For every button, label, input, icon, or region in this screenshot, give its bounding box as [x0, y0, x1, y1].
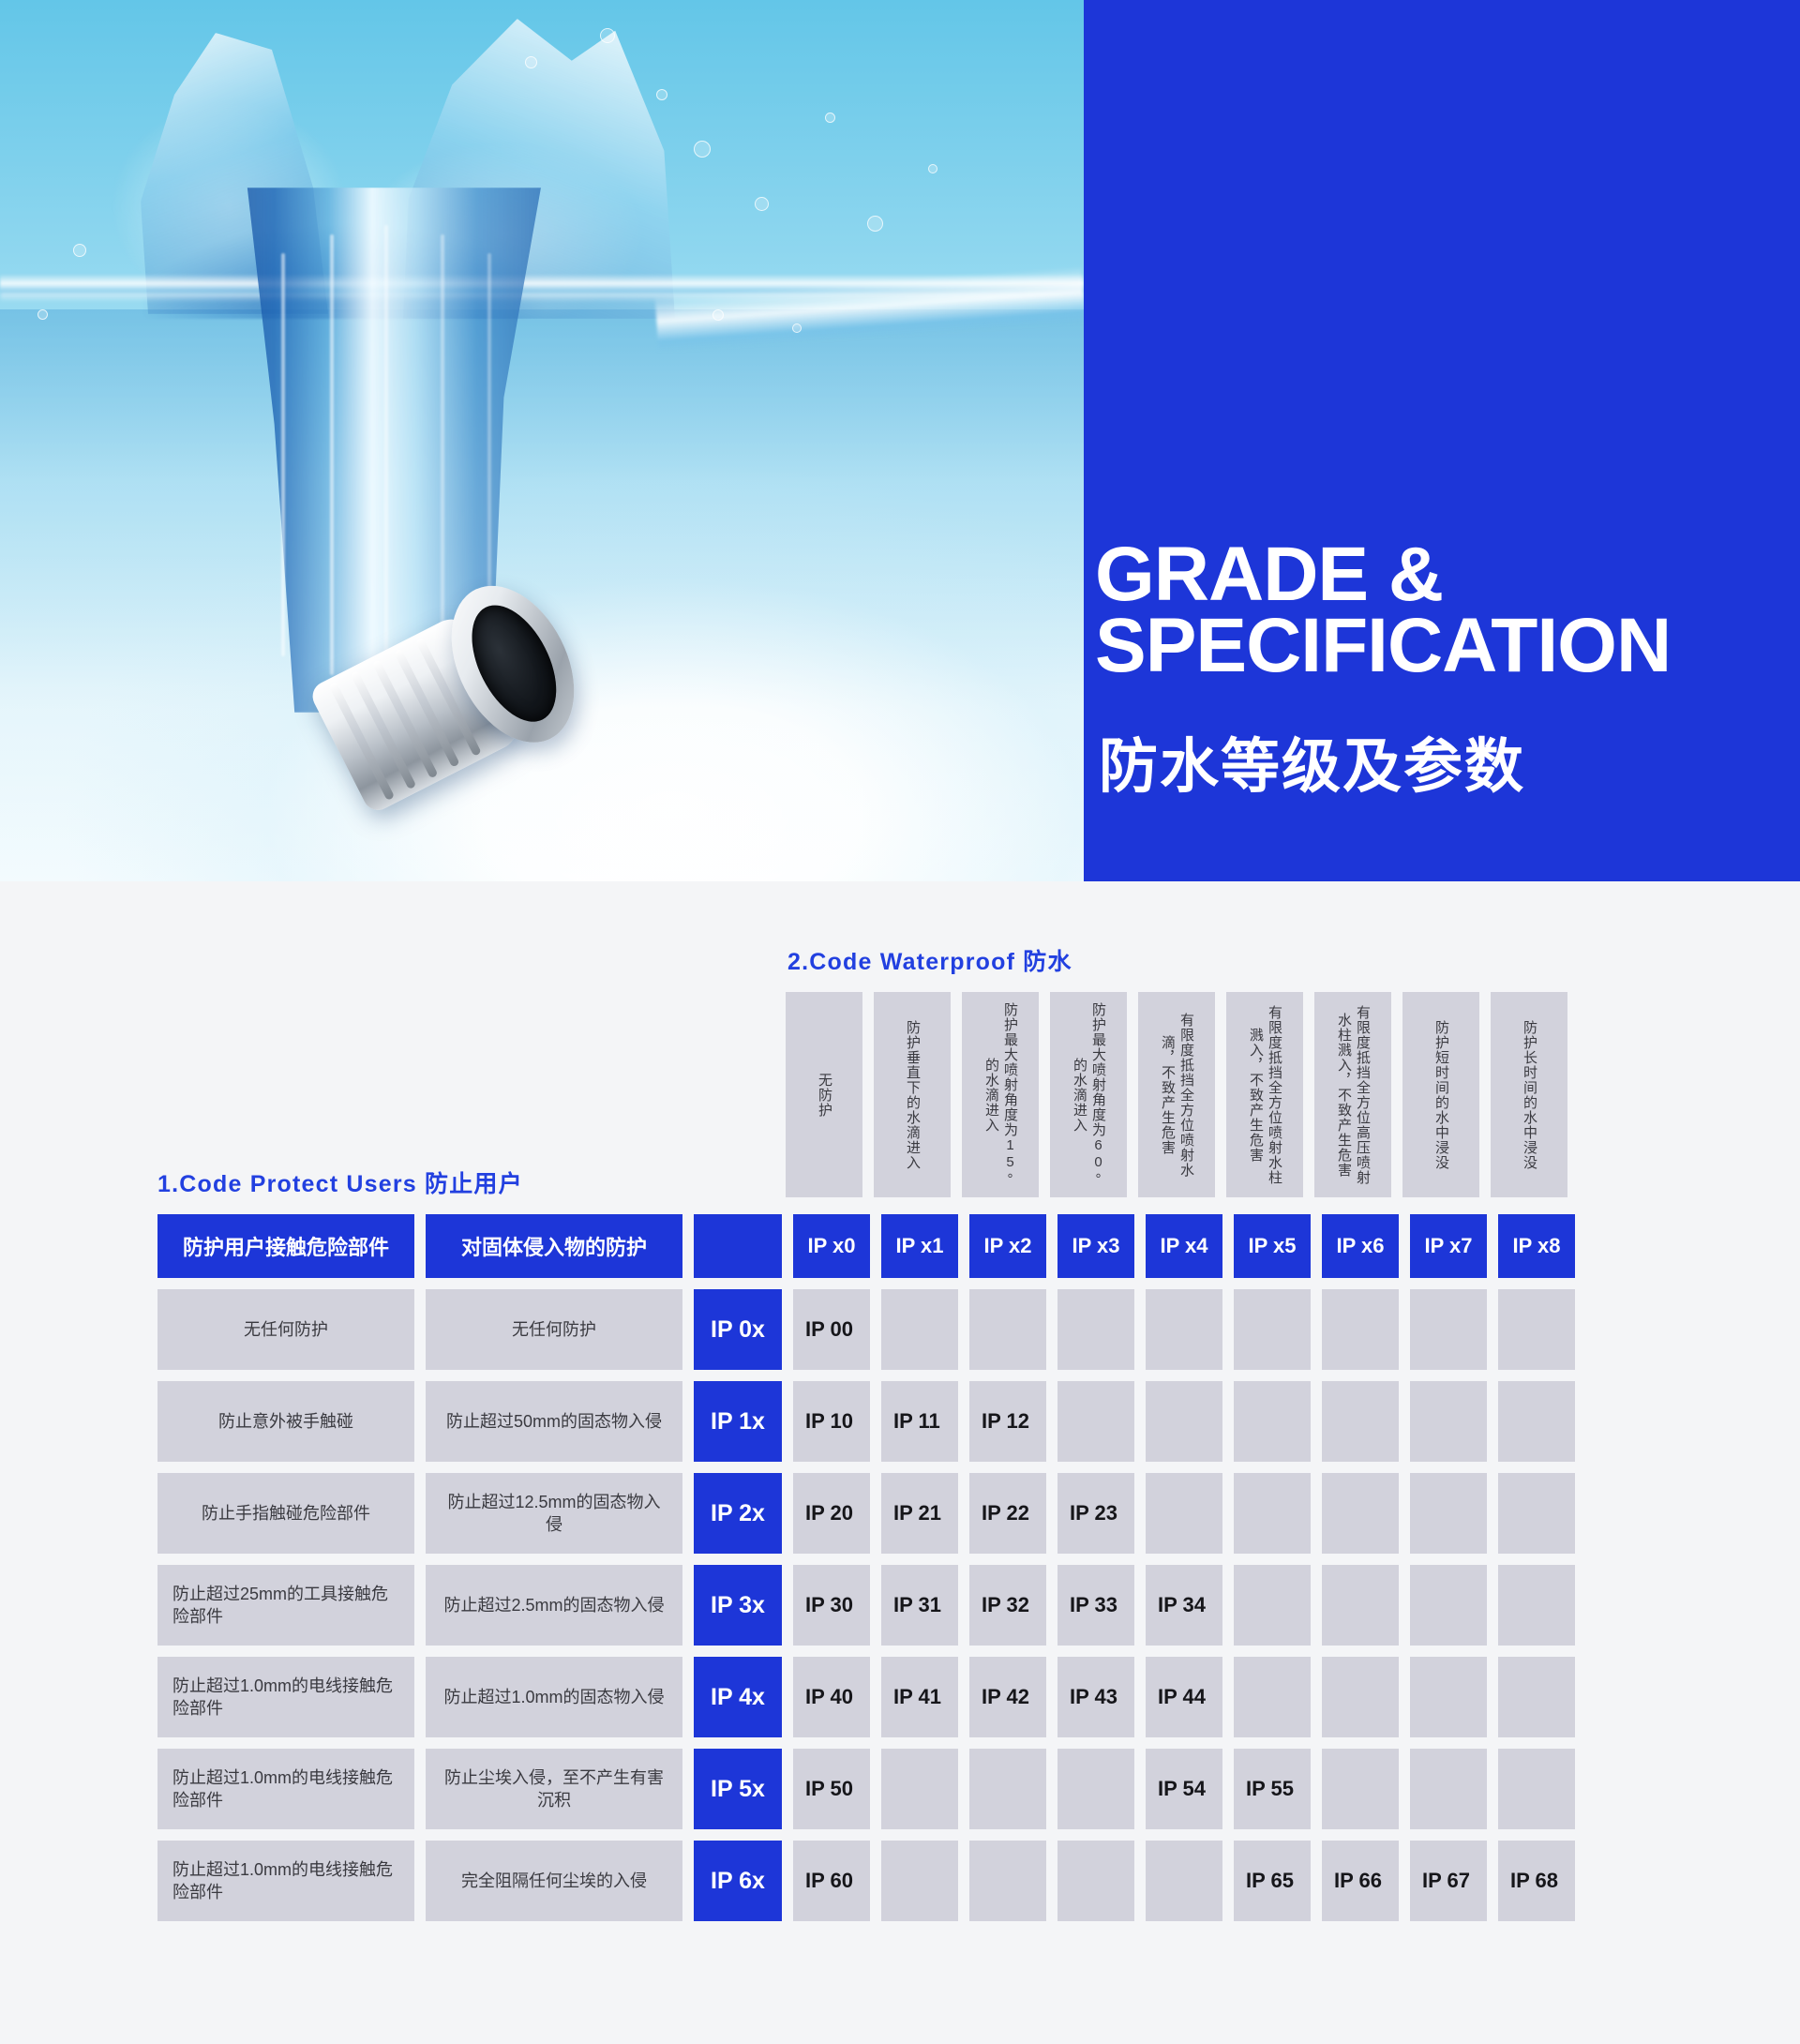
ip-code-cell: IP 50	[793, 1749, 870, 1829]
ip-code-cell-empty	[969, 1841, 1046, 1921]
bubble	[825, 113, 835, 123]
bubble	[712, 309, 724, 321]
ip-rating-table: 防护用户接触危险部件对固体侵入物的防护IP x0IP x1IP x2IP x3I…	[157, 1214, 1575, 1932]
bubble	[867, 216, 883, 232]
table-header-row: 防护用户接触危险部件对固体侵入物的防护IP x0IP x1IP x2IP x3I…	[157, 1214, 1575, 1278]
ip-code-cell: IP 55	[1234, 1749, 1311, 1829]
ip-code-cell-empty	[1234, 1381, 1311, 1462]
water-streak	[281, 253, 285, 656]
ip-code-cell: IP 23	[1057, 1473, 1134, 1554]
waterproof-header-cell: 无防护	[786, 992, 862, 1197]
water-splash-photo	[0, 0, 1084, 881]
ip-code-cell-empty	[1410, 1749, 1487, 1829]
ip-code-cell-empty	[1322, 1289, 1399, 1370]
ip-code-cell: IP 54	[1146, 1749, 1222, 1829]
table-header-ip-ipx0: IP x0	[793, 1214, 870, 1278]
ip-code-cell-empty	[1234, 1657, 1311, 1737]
bubble	[694, 141, 711, 158]
row-protect-users-desc: 防止超过25mm的工具接触危险部件	[157, 1565, 414, 1646]
waterproof-header-cell: 防护短时间的水中浸没	[1402, 992, 1479, 1197]
ip-code-cell-empty	[881, 1841, 958, 1921]
deep-water-layer	[0, 309, 1084, 881]
ip-code-cell-empty	[1498, 1749, 1575, 1829]
ip-code-cell-empty	[969, 1749, 1046, 1829]
waterproof-header-text: 无防护	[815, 1073, 833, 1118]
bubble	[37, 309, 48, 320]
row-protect-users-desc: 无任何防护	[157, 1289, 414, 1370]
waterproof-header-cell: 防护最大喷射角度为60°的水滴进入	[1050, 992, 1127, 1197]
ip-code-cell-empty	[1234, 1289, 1311, 1370]
ip-code-cell: IP 67	[1410, 1841, 1487, 1921]
ip-code-cell: IP 32	[969, 1565, 1046, 1646]
row-ip-code-label: IP 4x	[694, 1657, 782, 1737]
ip-code-cell-empty	[1057, 1289, 1134, 1370]
ip-code-cell-empty	[881, 1749, 958, 1829]
row-protect-users-desc: 防止超过1.0mm的电线接触危险部件	[157, 1749, 414, 1829]
table-header-ip-ipx3: IP x3	[1057, 1214, 1134, 1278]
row-ip-code-label: IP 1x	[694, 1381, 782, 1462]
table-header-ip-ipx7: IP x7	[1410, 1214, 1487, 1278]
waterproof-header-cell: 防护垂直下的水滴进入	[874, 992, 951, 1197]
bubble	[525, 56, 537, 68]
ip-code-cell: IP 00	[793, 1289, 870, 1370]
bubble	[600, 28, 615, 43]
waterproof-header-text: 有限度抵挡全方位喷射水柱溅入，不致产生危害	[1246, 1001, 1283, 1188]
table-row: 防止意外被手触碰防止超过50mm的固态物入侵IP 1xIP 10IP 11IP …	[157, 1381, 1575, 1462]
ip-code-cell-empty	[1322, 1473, 1399, 1554]
row-solid-protection-desc: 完全阻隔任何尘埃的入侵	[426, 1841, 682, 1921]
waterproof-header-text: 有限度抵挡全方位喷射水滴，不致产生危害	[1158, 1001, 1195, 1188]
ip-code-cell: IP 42	[969, 1657, 1046, 1737]
row-ip-code-label: IP 0x	[694, 1289, 782, 1370]
table-header-solid-protection: 对固体侵入物的防护	[426, 1214, 682, 1278]
bubble	[792, 323, 802, 333]
row-solid-protection-desc: 防止尘埃入侵，至不产生有害沉积	[426, 1749, 682, 1829]
row-solid-protection-desc: 无任何防护	[426, 1289, 682, 1370]
page-title-line1: GRADE &	[1095, 539, 1789, 610]
page-title-line2: SPECIFICATION	[1095, 610, 1789, 682]
ip-code-cell-empty	[1498, 1289, 1575, 1370]
row-ip-code-label: IP 5x	[694, 1749, 782, 1829]
ip-code-cell: IP 41	[881, 1657, 958, 1737]
table-row: 防止超过1.0mm的电线接触危险部件防止超过1.0mm的固态物入侵IP 4xIP…	[157, 1657, 1575, 1737]
bubble	[755, 197, 769, 211]
ip-code-cell-empty	[1322, 1657, 1399, 1737]
waterproof-header-cell: 有限度抵挡全方位喷射水柱溅入，不致产生危害	[1226, 992, 1303, 1197]
ip-code-cell-empty	[969, 1289, 1046, 1370]
ip-code-cell: IP 44	[1146, 1657, 1222, 1737]
waterproof-header-cell: 有限度抵挡全方位高压喷射水柱溅入，不致产生危害	[1314, 992, 1391, 1197]
table-header-ipx-blank	[694, 1214, 782, 1278]
hero-banner: GRADE & SPECIFICATION 防水等级及参数	[0, 0, 1800, 881]
waterproof-header-cell: 防护长时间的水中浸没	[1491, 992, 1567, 1197]
ip-code-cell: IP 12	[969, 1381, 1046, 1462]
waterproof-header-strip: 无防护防护垂直下的水滴进入防护最大喷射角度为15°的水滴进入防护最大喷射角度为6…	[786, 992, 1567, 1197]
ip-code-cell-empty	[1498, 1565, 1575, 1646]
ip-code-cell: IP 40	[793, 1657, 870, 1737]
row-solid-protection-desc: 防止超过2.5mm的固态物入侵	[426, 1565, 682, 1646]
ip-code-cell: IP 60	[793, 1841, 870, 1921]
table-header-protect-users: 防护用户接触危险部件	[157, 1214, 414, 1278]
row-protect-users-desc: 防止超过1.0mm的电线接触危险部件	[157, 1657, 414, 1737]
page-root: GRADE & SPECIFICATION 防水等级及参数 2.Code Wat…	[0, 0, 1800, 2044]
ip-code-cell: IP 34	[1146, 1565, 1222, 1646]
ip-code-cell: IP 43	[1057, 1657, 1134, 1737]
ip-code-cell-empty	[1498, 1473, 1575, 1554]
ip-code-cell: IP 33	[1057, 1565, 1134, 1646]
table-header-ip-ipx5: IP x5	[1234, 1214, 1311, 1278]
page-subtitle: 防水等级及参数	[1099, 736, 1792, 798]
ip-code-cell-empty	[1322, 1749, 1399, 1829]
ip-code-cell: IP 11	[881, 1381, 958, 1462]
ip-code-cell: IP 68	[1498, 1841, 1575, 1921]
ip-code-cell: IP 10	[793, 1381, 870, 1462]
ip-code-cell: IP 30	[793, 1565, 870, 1646]
ip-code-cell-empty	[1322, 1565, 1399, 1646]
row-solid-protection-desc: 防止超过1.0mm的固态物入侵	[426, 1657, 682, 1737]
ip-code-cell-empty	[1146, 1289, 1222, 1370]
section-label-protect-users: 1.Code Protect Users 防止用户	[157, 1165, 523, 1199]
water-streak	[330, 234, 334, 675]
ip-code-cell: IP 20	[793, 1473, 870, 1554]
page-title: GRADE & SPECIFICATION	[1095, 539, 1789, 682]
ip-code-cell-empty	[881, 1289, 958, 1370]
ip-code-cell-empty	[1410, 1657, 1487, 1737]
ip-code-cell-empty	[1057, 1381, 1134, 1462]
bubble	[656, 89, 667, 100]
row-protect-users-desc: 防止手指触碰危险部件	[157, 1473, 414, 1554]
ip-code-cell-empty	[1146, 1841, 1222, 1921]
ip-code-cell: IP 21	[881, 1473, 958, 1554]
ip-code-cell-empty	[1057, 1749, 1134, 1829]
section-label-waterproof: 2.Code Waterproof 防水	[787, 943, 1072, 977]
ip-code-cell-empty	[1234, 1565, 1311, 1646]
table-row: 防止手指触碰危险部件防止超过12.5mm的固态物入侵IP 2xIP 20IP 2…	[157, 1473, 1575, 1554]
ip-code-cell-empty	[1498, 1381, 1575, 1462]
table-row: 无任何防护无任何防护IP 0xIP 00	[157, 1289, 1575, 1370]
ip-code-cell-empty	[1234, 1473, 1311, 1554]
bubble	[73, 244, 86, 257]
waterproof-header-text: 防护短时间的水中浸没	[1432, 1020, 1450, 1170]
waterproof-header-text: 有限度抵挡全方位高压喷射水柱溅入，不致产生危害	[1334, 1001, 1372, 1188]
row-ip-code-label: IP 2x	[694, 1473, 782, 1554]
waterproof-header-cell: 防护最大喷射角度为15°的水滴进入	[962, 992, 1039, 1197]
ip-code-cell-empty	[1410, 1381, 1487, 1462]
ip-code-cell-empty	[1146, 1381, 1222, 1462]
table-header-ip-ipx1: IP x1	[881, 1214, 958, 1278]
table-row: 防止超过1.0mm的电线接触危险部件防止尘埃入侵，至不产生有害沉积IP 5xIP…	[157, 1749, 1575, 1829]
waterproof-header-text: 防护垂直下的水滴进入	[903, 1020, 922, 1170]
ip-code-cell-empty	[1322, 1381, 1399, 1462]
table-header-ip-ipx2: IP x2	[969, 1214, 1046, 1278]
ip-code-cell-empty	[1410, 1473, 1487, 1554]
ip-code-cell-empty	[1410, 1565, 1487, 1646]
waterproof-header-cell: 有限度抵挡全方位喷射水滴，不致产生危害	[1138, 992, 1215, 1197]
ip-code-cell-empty	[1410, 1289, 1487, 1370]
row-ip-code-label: IP 3x	[694, 1565, 782, 1646]
ip-code-cell: IP 65	[1234, 1841, 1311, 1921]
table-row: 防止超过25mm的工具接触危险部件防止超过2.5mm的固态物入侵IP 3xIP …	[157, 1565, 1575, 1646]
ip-code-cell: IP 31	[881, 1565, 958, 1646]
table-header-ip-ipx4: IP x4	[1146, 1214, 1222, 1278]
ip-code-cell: IP 22	[969, 1473, 1046, 1554]
waterproof-header-text: 防护最大喷射角度为15°的水滴进入	[982, 1001, 1019, 1188]
row-protect-users-desc: 防止意外被手触碰	[157, 1381, 414, 1462]
waterproof-header-text: 防护长时间的水中浸没	[1520, 1020, 1538, 1170]
ip-code-cell-empty	[1498, 1657, 1575, 1737]
ip-code-cell-empty	[1057, 1841, 1134, 1921]
row-protect-users-desc: 防止超过1.0mm的电线接触危险部件	[157, 1841, 414, 1921]
table-header-ip-ipx6: IP x6	[1322, 1214, 1399, 1278]
table-header-ip-ipx8: IP x8	[1498, 1214, 1575, 1278]
row-solid-protection-desc: 防止超过12.5mm的固态物入侵	[426, 1473, 682, 1554]
ip-code-cell: IP 66	[1322, 1841, 1399, 1921]
table-row: 防止超过1.0mm的电线接触危险部件完全阻隔任何尘埃的入侵IP 6xIP 60I…	[157, 1841, 1575, 1921]
bubble	[928, 164, 937, 173]
waterproof-header-text: 防护最大喷射角度为60°的水滴进入	[1070, 1001, 1107, 1188]
row-solid-protection-desc: 防止超过50mm的固态物入侵	[426, 1381, 682, 1462]
row-ip-code-label: IP 6x	[694, 1841, 782, 1921]
ip-code-cell-empty	[1146, 1473, 1222, 1554]
